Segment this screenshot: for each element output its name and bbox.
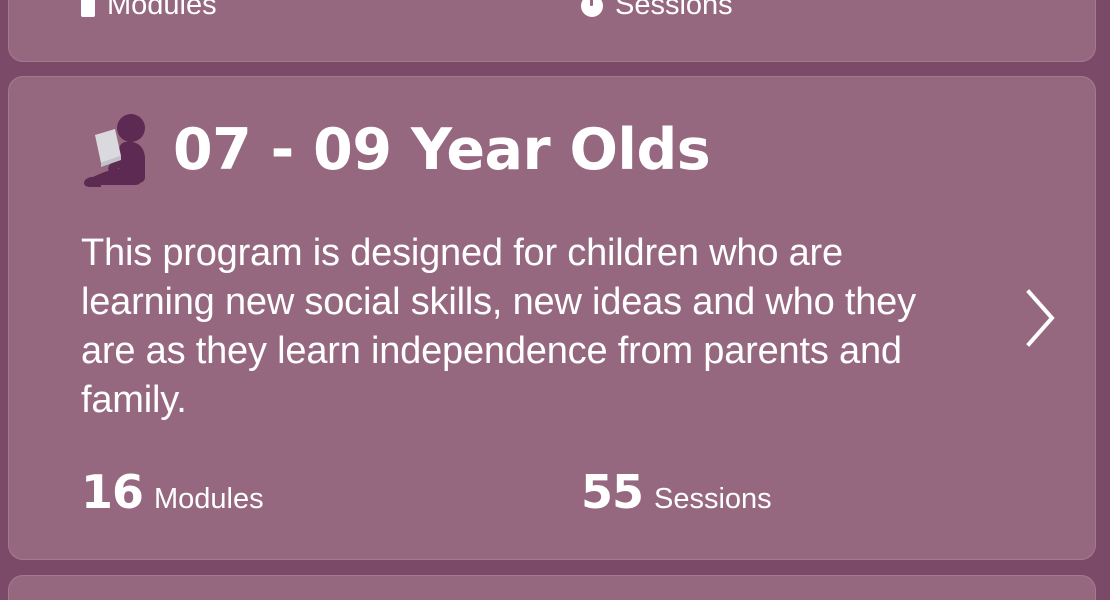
book-icon [81, 0, 95, 17]
stats-row: Modules Sessions [81, 0, 1021, 20]
next-button[interactable] [1021, 283, 1061, 353]
stat-sessions-label: Sessions [615, 0, 733, 20]
stat-sessions-label: Sessions [654, 485, 772, 514]
card-description: This program is designed for children wh… [81, 229, 971, 425]
page-title: 07 - 09 Year Olds [173, 122, 710, 179]
program-card-07-09[interactable]: 07 - 09 Year Olds This program is design… [8, 76, 1096, 560]
program-card-below[interactable] [8, 575, 1096, 600]
stat-sessions: Sessions [581, 0, 733, 20]
clock-icon [581, 0, 603, 17]
program-card-list: Modules Sessions [0, 0, 1110, 600]
child-reading-icon [81, 111, 155, 189]
stat-modules-label: Modules [154, 485, 264, 514]
stats-row: 16 Modules 55 Sessions [81, 469, 1021, 515]
stat-modules-label: Modules [107, 0, 217, 20]
stat-modules-value: 16 [81, 469, 143, 515]
stat-sessions: 55 Sessions [581, 469, 772, 515]
card-header: 07 - 09 Year Olds [81, 111, 710, 189]
program-card-above[interactable]: Modules Sessions [8, 0, 1096, 62]
stat-sessions-value: 55 [581, 469, 643, 515]
stat-modules: 16 Modules [81, 469, 581, 515]
chevron-right-icon [1024, 288, 1058, 348]
stat-modules: Modules [81, 0, 581, 20]
